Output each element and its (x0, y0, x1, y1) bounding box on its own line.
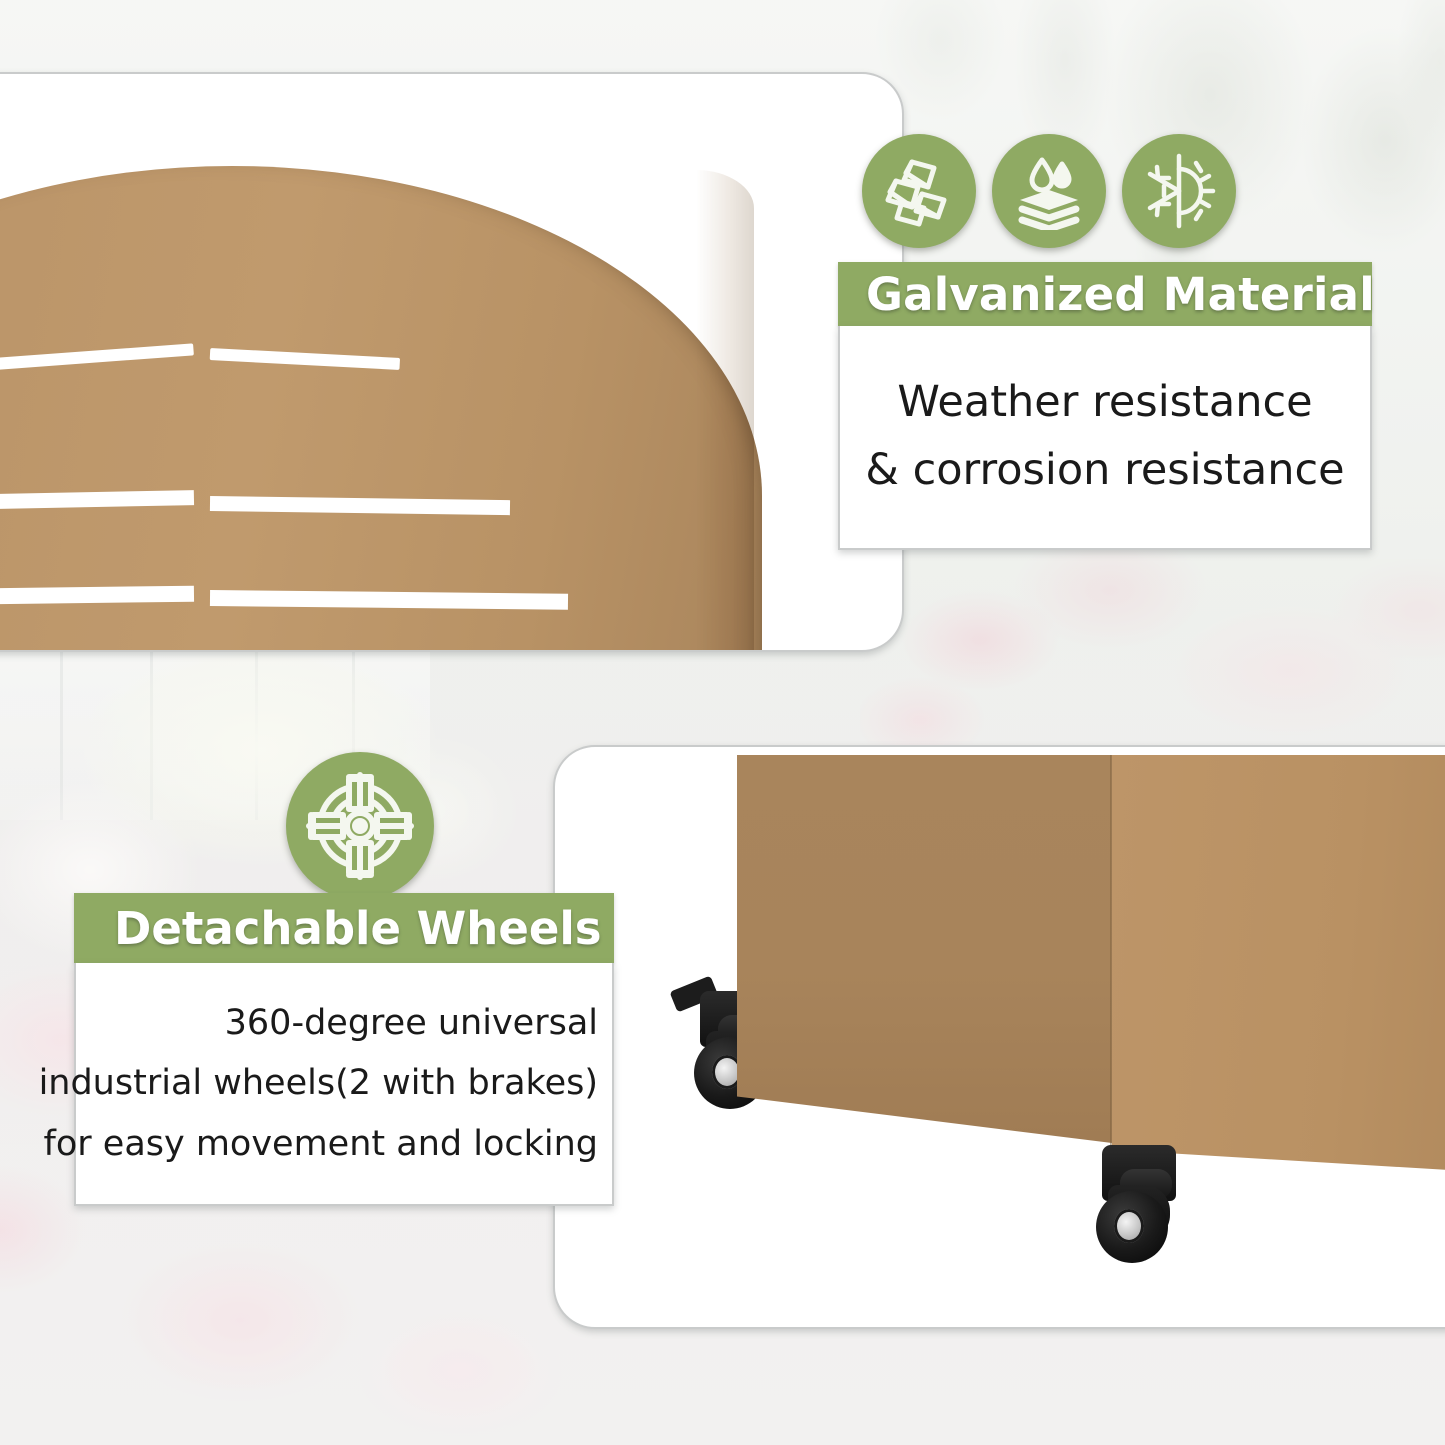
galvanized-icon-row (862, 134, 1236, 248)
box-front-face (737, 755, 1112, 1143)
wheels-card-line-2: industrial wheels(2 with brakes) (39, 1053, 598, 1113)
wheels-card-body: 360-degree universal industrial wheels(2… (74, 963, 614, 1206)
metal-bars-icon (862, 134, 976, 248)
water-drops-layers-icon (992, 134, 1106, 248)
arched-slatted-lid (0, 166, 762, 652)
target-crosshair-icon (286, 752, 434, 900)
infographic-canvas: Galvanized Material Weather resistance &… (0, 0, 1445, 1445)
wheels-icon-row (286, 752, 434, 900)
product-panel-casters (553, 745, 1445, 1329)
snowflake-sun-icon (1122, 134, 1236, 248)
galvanized-card-title: Galvanized Material (866, 268, 1375, 321)
caster-hub (1114, 1209, 1144, 1243)
galvanized-card-body: Weather resistance & corrosion resistanc… (838, 326, 1372, 550)
wheels-card-header: Detachable Wheels (74, 893, 614, 963)
detachable-wheels-card: Detachable Wheels 360-degree universal i… (74, 893, 614, 1206)
galvanized-card-line-2: & corrosion resistance (865, 437, 1344, 505)
box-side-face (1112, 755, 1445, 1175)
wheels-card-title: Detachable Wheels (114, 902, 602, 955)
lid-rim-highlight (696, 170, 754, 652)
galvanized-material-card: Galvanized Material Weather resistance &… (838, 262, 1372, 550)
wheels-card-line-3: for easy movement and locking (44, 1114, 598, 1174)
wheels-card-line-1: 360-degree universal (225, 993, 598, 1053)
lid-body (0, 166, 762, 652)
tan-storage-box (737, 755, 1445, 1175)
product-panel-lid (0, 72, 904, 652)
galvanized-card-header: Galvanized Material (838, 262, 1372, 326)
galvanized-card-line-1: Weather resistance (897, 369, 1312, 437)
